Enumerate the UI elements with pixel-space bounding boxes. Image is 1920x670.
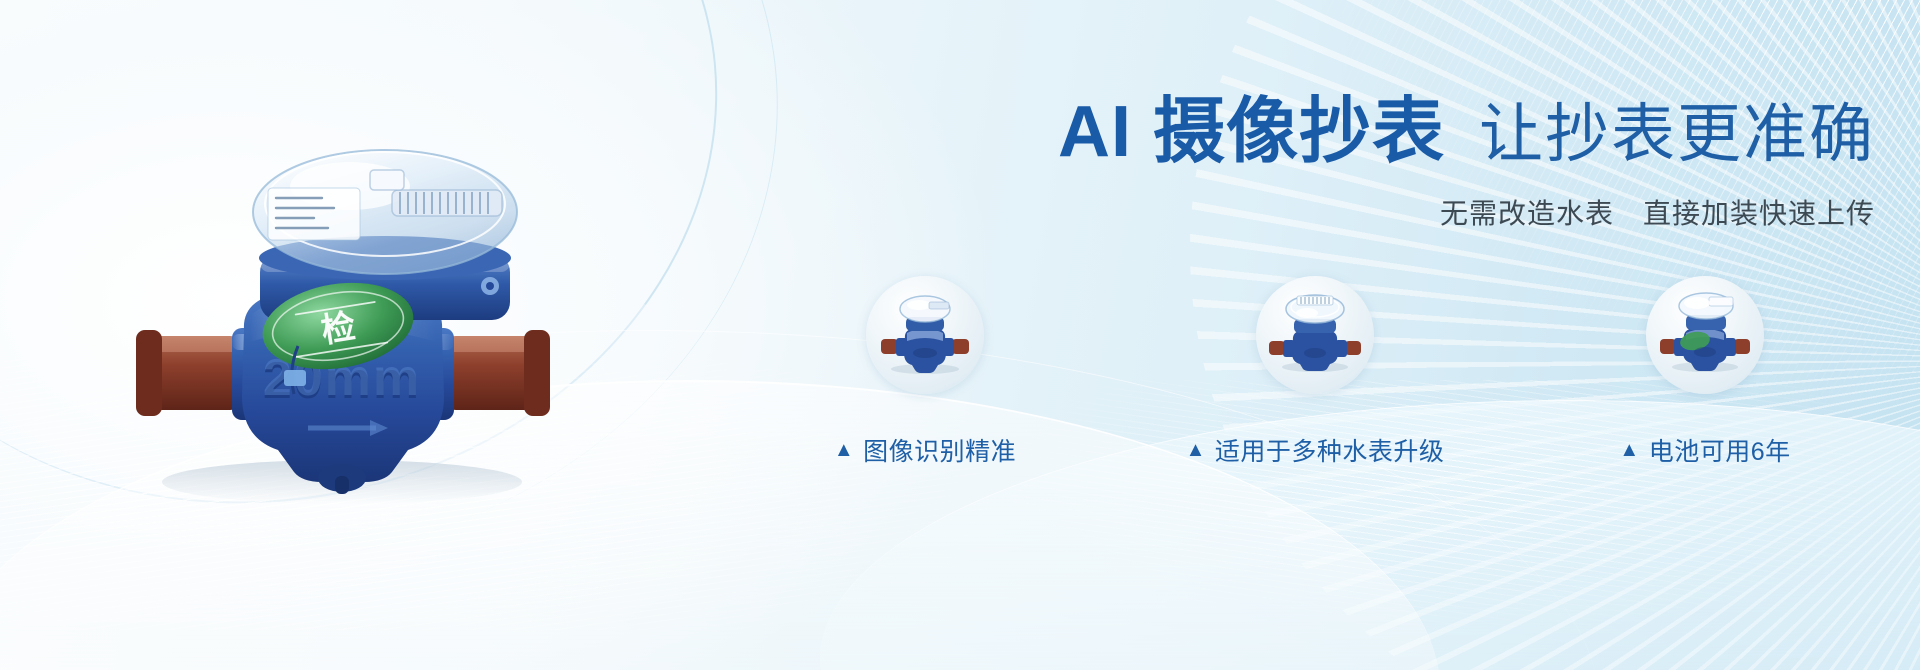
feature-caption-text: 电池可用6年: [1649, 432, 1791, 468]
feature-caption-image-recognition: ▲ 图像识别精准: [834, 432, 1016, 468]
feature-caption-multi-meter-upgrade: ▲ 适用于多种水表升级: [1186, 432, 1445, 468]
headline: AI 摄像抄表 让抄表更准确: [575, 96, 1875, 168]
triangle-marker-icon: ▲: [834, 440, 854, 460]
svg-text:检: 检: [319, 307, 359, 351]
headline-primary: AI 摄像抄表: [1058, 96, 1445, 168]
feature-item-battery-life[interactable]: ▲ 电池可用6年: [1540, 276, 1870, 468]
subheadline: 无需改造水表 直接加装快速上传: [575, 192, 1875, 232]
triangle-marker-icon: ▲: [1619, 440, 1639, 460]
headline-secondary: 让抄表更准确: [1479, 102, 1875, 168]
banner-copy: AI 摄像抄表 让抄表更准确 无需改造水表 直接加装快速上传: [575, 96, 1875, 232]
feature-item-multi-meter-upgrade[interactable]: ▲ 适用于多种水表升级: [1150, 276, 1480, 468]
water-meter-thumb-upgrade: [1256, 276, 1374, 394]
promo-banner: 20mm 20mm NSF: [0, 0, 1920, 670]
water-meter-thumb-recognition: [866, 276, 984, 394]
feature-caption-battery-life: ▲ 电池可用6年: [1619, 432, 1790, 468]
feature-caption-text: 图像识别精准: [863, 432, 1016, 468]
feature-item-image-recognition[interactable]: ▲ 图像识别精准: [760, 276, 1090, 468]
feature-list: ▲ 图像识别精准: [760, 276, 1870, 468]
hero-product-image: 20mm 20mm NSF: [92, 78, 592, 508]
feature-caption-text: 适用于多种水表升级: [1215, 432, 1445, 468]
triangle-marker-icon: ▲: [1186, 440, 1206, 460]
water-meter-thumb-battery: [1646, 276, 1764, 394]
